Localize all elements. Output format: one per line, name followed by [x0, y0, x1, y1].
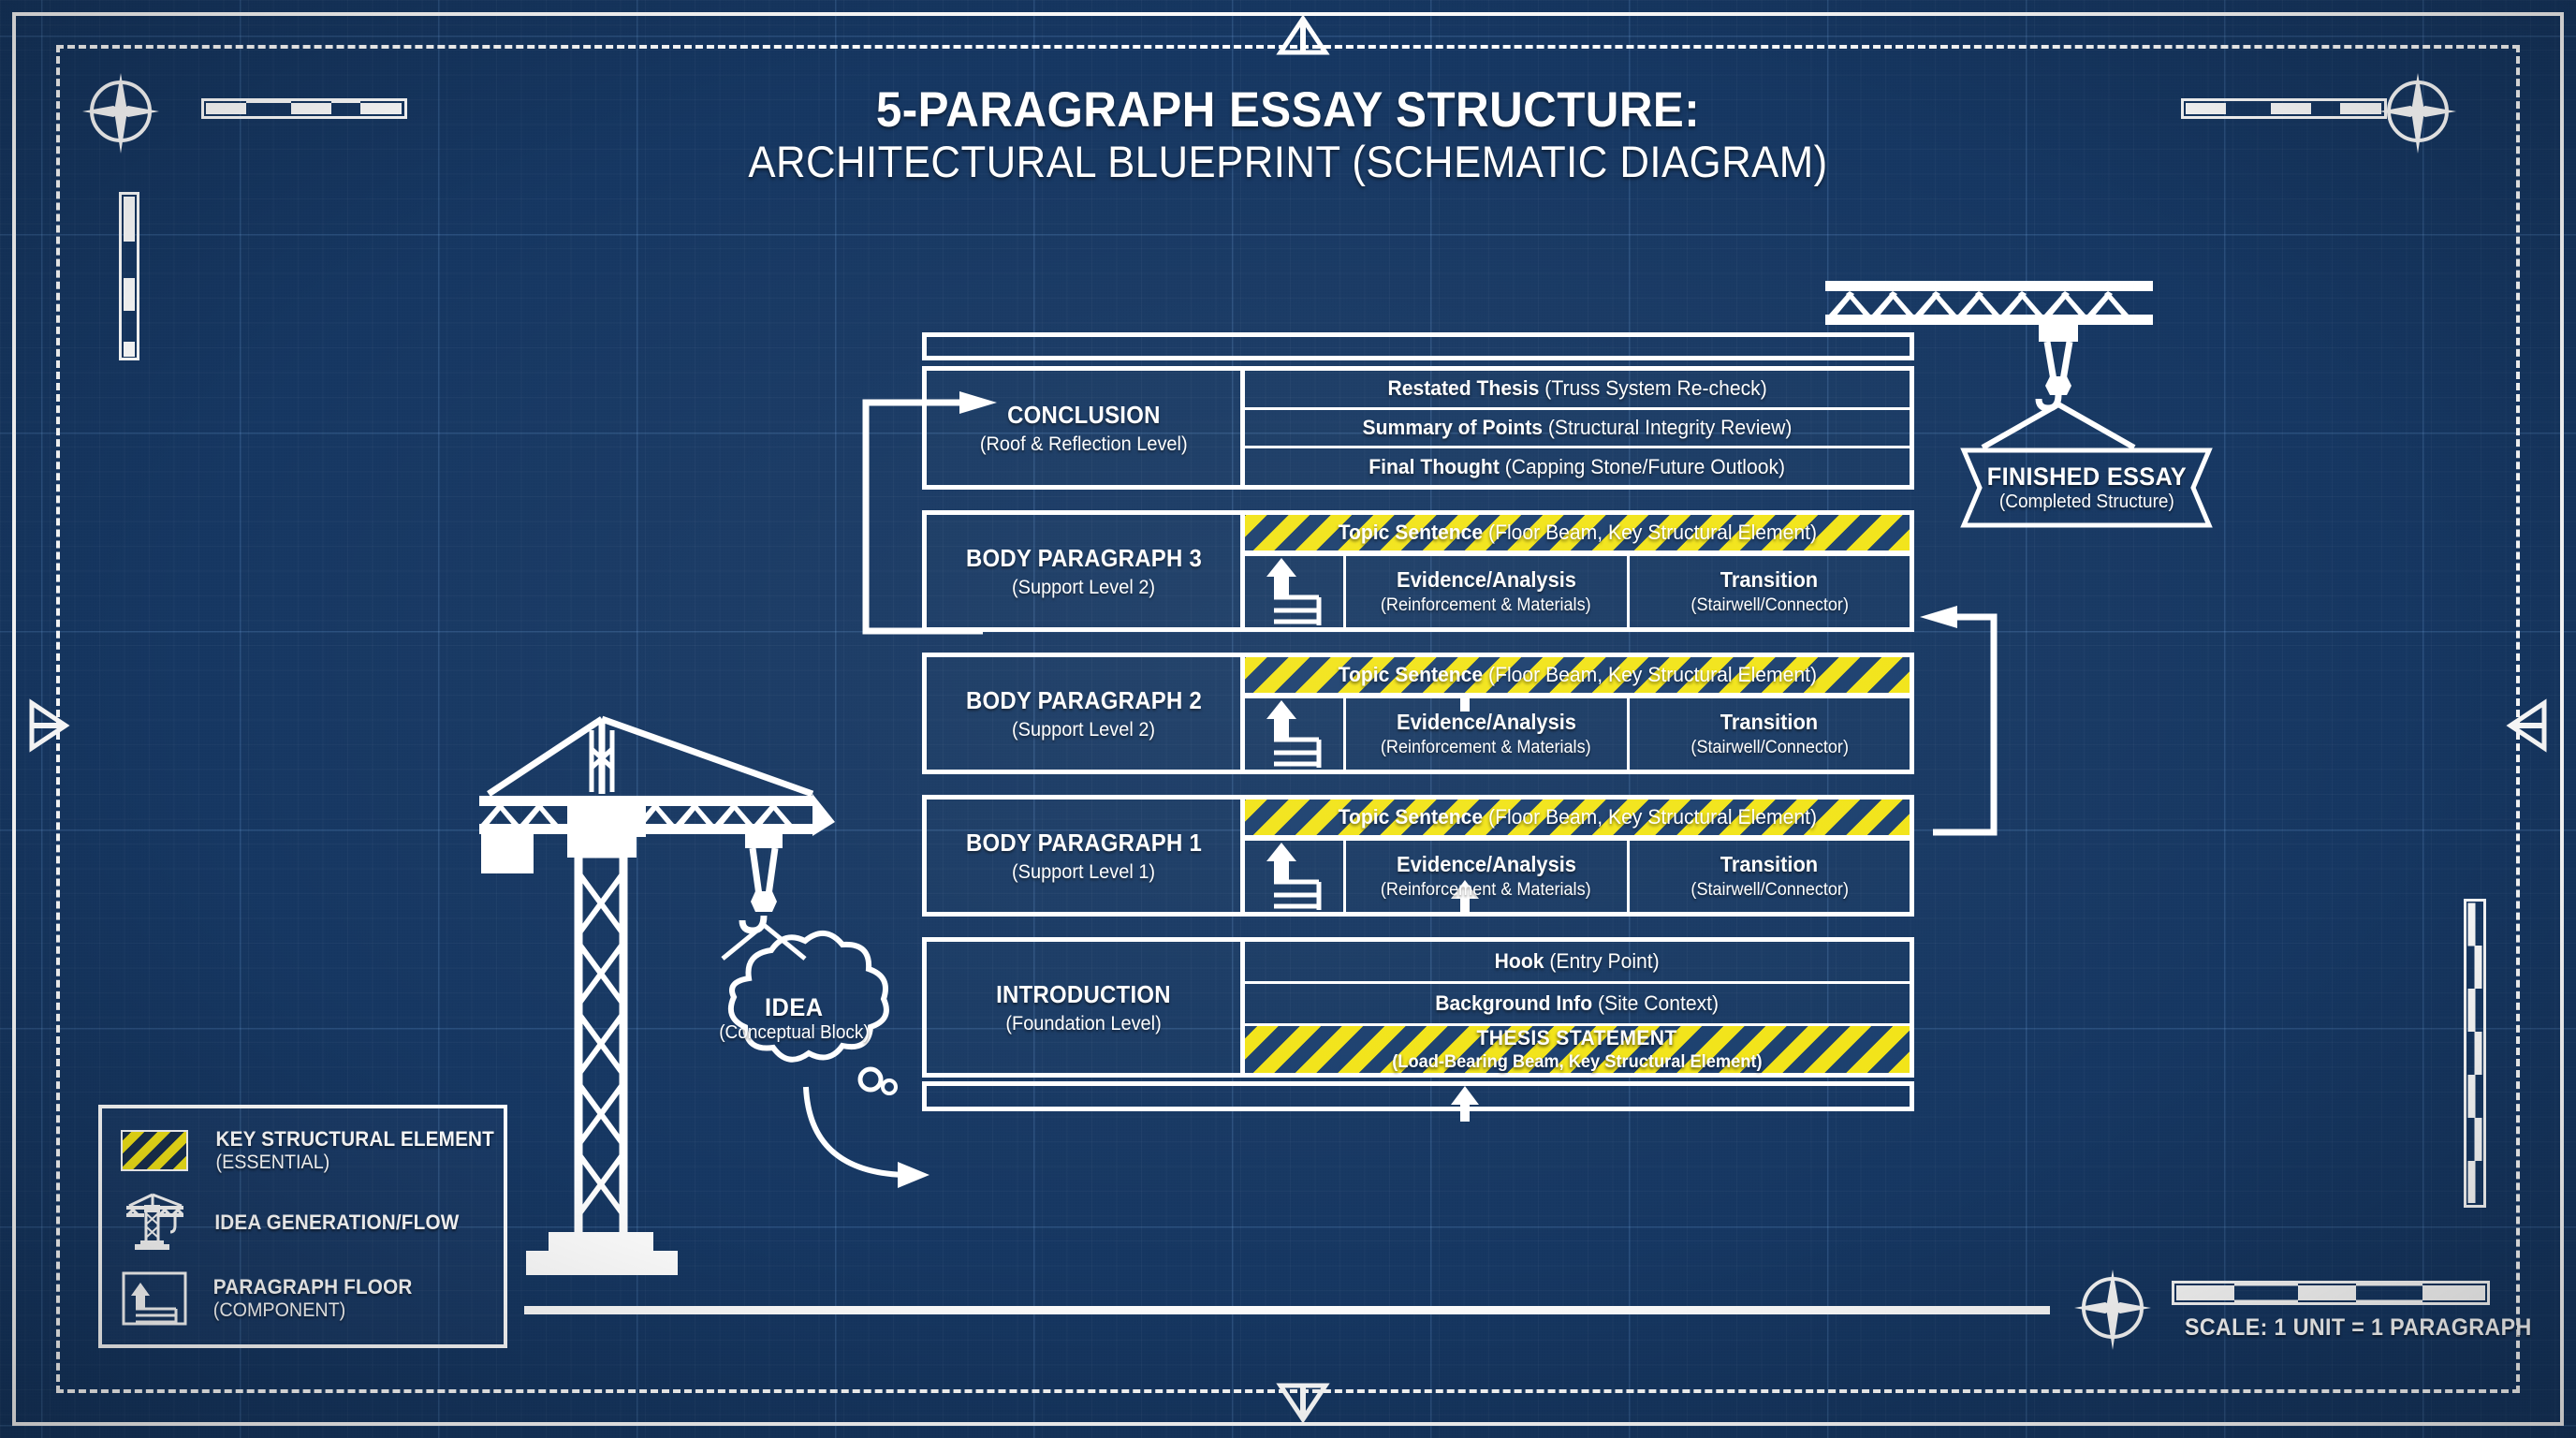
legend-item-key-structural-element[interactable]: KEY STRUCTURAL ELEMENT (ESSENTIAL)	[119, 1127, 487, 1174]
row-hook[interactable]: Hook (Entry Point)	[1245, 942, 1910, 981]
page-title: 5-PARAGRAPH ESSAY STRUCTURE: ARCHITECTUR…	[0, 82, 2576, 187]
floor-subtitle: (Foundation Level)	[1005, 1013, 1161, 1035]
stairwell-icon	[1261, 841, 1328, 912]
legend-sublabel: (COMPONENT)	[213, 1299, 413, 1322]
ruler-right-vertical	[2464, 899, 2486, 1208]
hazard-swatch-icon	[119, 1130, 190, 1171]
floor-rows-conclusion: Restated Thesis (Truss System Re-check) …	[1245, 371, 1910, 485]
floor-body-paragraph-1[interactable]: BODY PARAGRAPH 1 (Support Level 1) Topic…	[922, 795, 1914, 917]
floor-rows-body-paragraph-3: Topic Sentence (Floor Beam, Key Structur…	[1245, 515, 1910, 627]
idea-title: IDEA	[765, 993, 824, 1022]
cell-evidence-analysis[interactable]: Evidence/Analysis (Reinforcement & Mater…	[1346, 841, 1627, 912]
floor-label-body-paragraph-1: BODY PARAGRAPH 1 (Support Level 1)	[927, 800, 1245, 912]
row-bold: Restated Thesis	[1387, 376, 1539, 400]
legend-item-idea-generation[interactable]: IDEA GENERATION/FLOW	[119, 1194, 487, 1252]
floor-body-paragraph-2[interactable]: BODY PARAGRAPH 2 (Support Level 2) Topic…	[922, 653, 1914, 774]
finished-essay-title: FINISHED ESSAY	[1986, 462, 2186, 492]
stairwell-icon	[1261, 698, 1328, 770]
cell-title: Transition	[1720, 567, 1818, 593]
row-background-info[interactable]: Background Info (Site Context)	[1245, 981, 1910, 1023]
floor-conclusion[interactable]: CONCLUSION (Roof & Reflection Level) Res…	[922, 366, 1914, 490]
floor-rows-introduction: Hook (Entry Point) Background Info (Site…	[1245, 942, 1910, 1073]
floor-split-body-paragraph-1: Evidence/Analysis (Reinforcement & Mater…	[1245, 838, 1910, 912]
cell-subtitle: (Stairwell/Connector)	[1690, 595, 1849, 616]
floor-title: BODY PARAGRAPH 2	[965, 686, 1201, 715]
blueprint-canvas: 5-PARAGRAPH ESSAY STRUCTURE: ARCHITECTUR…	[0, 0, 2576, 1438]
cell-evidence-analysis[interactable]: Evidence/Analysis (Reinforcement & Mater…	[1346, 698, 1627, 770]
thesis-title: THESIS STATEMENT	[1477, 1026, 1677, 1050]
topic-sentence-beam[interactable]: Topic Sentence (Floor Beam, Key Structur…	[1245, 800, 1910, 838]
row-bold: Summary of Points	[1363, 416, 1543, 439]
cell-evidence-analysis[interactable]: Evidence/Analysis (Reinforcement & Mater…	[1346, 556, 1627, 627]
idea-cloud: IDEA (Conceptual Block)	[695, 941, 893, 1091]
foundation-slab	[922, 1081, 1914, 1111]
roof-cap	[922, 332, 1914, 360]
topic-sentence-beam[interactable]: Topic Sentence (Floor Beam, Key Structur…	[1245, 515, 1910, 553]
cell-subtitle: (Reinforcement & Materials)	[1381, 595, 1591, 616]
registration-mark-top	[1273, 17, 1333, 56]
thesis-statement-beam[interactable]: THESIS STATEMENT (Load-Bearing Beam, Key…	[1245, 1023, 1910, 1073]
floor-split-body-paragraph-3: Evidence/Analysis (Reinforcement & Mater…	[1245, 553, 1910, 627]
row-bold: Hook	[1495, 949, 1544, 973]
row-rest: (Capping Stone/Future Outlook)	[1500, 455, 1785, 478]
floor-label-conclusion: CONCLUSION (Roof & Reflection Level)	[927, 371, 1245, 485]
row-rest: (Truss System Re-check)	[1539, 376, 1766, 400]
floor-label-introduction: INTRODUCTION (Foundation Level)	[927, 942, 1245, 1073]
ruler-left-vertical	[119, 192, 139, 360]
essay-structure-stack: CONCLUSION (Roof & Reflection Level) Res…	[922, 332, 1914, 1111]
idea-subtitle: (Conceptual Block)	[719, 1022, 870, 1044]
finished-essay-subtitle: (Completed Structure)	[1999, 492, 2174, 513]
topic-rest: (Floor Beam, Key Structural Element)	[1483, 663, 1817, 686]
legend-item-paragraph-floor[interactable]: PARAGRAPH FLOOR (COMPONENT)	[119, 1271, 487, 1326]
row-final-thought[interactable]: Final Thought (Capping Stone/Future Outl…	[1245, 446, 1910, 485]
cell-title: Transition	[1720, 710, 1818, 735]
floor-rows-body-paragraph-2: Topic Sentence (Floor Beam, Key Structur…	[1245, 657, 1910, 770]
topic-rest: (Floor Beam, Key Structural Element)	[1483, 805, 1817, 829]
topic-bold: Topic Sentence	[1338, 663, 1483, 686]
compass-rose-bottom-right	[2074, 1269, 2151, 1350]
thesis-subtitle: (Load-Bearing Beam, Key Structural Eleme…	[1392, 1052, 1762, 1073]
scale-label: SCALE: 1 UNIT = 1 PARAGRAPH	[2185, 1314, 2532, 1342]
row-rest: (Site Context)	[1592, 991, 1719, 1015]
topic-sentence-beam[interactable]: Topic Sentence (Floor Beam, Key Structur…	[1245, 657, 1910, 696]
cell-transition[interactable]: Transition (Stairwell/Connector)	[1627, 841, 1910, 912]
registration-mark-left	[28, 696, 67, 756]
legend-sublabel: (ESSENTIAL)	[215, 1152, 494, 1174]
floor-label-body-paragraph-2: BODY PARAGRAPH 2 (Support Level 2)	[927, 657, 1245, 770]
cell-subtitle: (Reinforcement & Materials)	[1381, 738, 1591, 758]
cell-title: Evidence/Analysis	[1397, 710, 1576, 735]
cell-title: Evidence/Analysis	[1397, 852, 1576, 877]
paragraph-floor-icon	[119, 1271, 190, 1326]
floor-body-paragraph-3[interactable]: BODY PARAGRAPH 3 (Support Level 2) Topic…	[922, 510, 1914, 632]
legend-label: PARAGRAPH FLOOR	[213, 1275, 413, 1299]
stairwell-icon	[1261, 556, 1328, 627]
row-bold: Background Info	[1436, 991, 1593, 1015]
scale-bar	[2172, 1281, 2490, 1305]
floor-introduction[interactable]: INTRODUCTION (Foundation Level) Hook (En…	[922, 937, 1914, 1078]
cell-title: Evidence/Analysis	[1397, 567, 1576, 593]
registration-mark-bottom	[1273, 1382, 1333, 1421]
cell-subtitle: (Stairwell/Connector)	[1690, 880, 1849, 901]
row-rest: (Structural Integrity Review)	[1543, 416, 1792, 439]
legend-panel: KEY STRUCTURAL ELEMENT (ESSENTIAL)	[98, 1105, 507, 1348]
floor-title: INTRODUCTION	[996, 980, 1171, 1009]
row-bold: Final Thought	[1369, 455, 1500, 478]
tower-crane-icon	[119, 1194, 190, 1252]
floor-subtitle: (Support Level 1)	[1012, 861, 1155, 884]
floor-label-body-paragraph-3: BODY PARAGRAPH 3 (Support Level 2)	[927, 515, 1245, 627]
floor-rows-body-paragraph-1: Topic Sentence (Floor Beam, Key Structur…	[1245, 800, 1910, 912]
floor-subtitle: (Roof & Reflection Level)	[980, 433, 1188, 456]
stair-icon-cell	[1245, 556, 1346, 627]
cell-subtitle: (Stairwell/Connector)	[1690, 738, 1849, 758]
cell-title: Transition	[1720, 852, 1818, 877]
cell-transition[interactable]: Transition (Stairwell/Connector)	[1627, 556, 1910, 627]
registration-mark-right	[2509, 696, 2548, 756]
topic-bold: Topic Sentence	[1338, 805, 1483, 829]
legend-label: IDEA GENERATION/FLOW	[214, 1211, 459, 1235]
cell-transition[interactable]: Transition (Stairwell/Connector)	[1627, 698, 1910, 770]
finished-essay-banner: FINISHED ESSAY (Completed Structure)	[1961, 448, 2212, 528]
title-line-1: 5-PARAGRAPH ESSAY STRUCTURE:	[90, 82, 2485, 138]
topic-bold: Topic Sentence	[1338, 521, 1483, 544]
ground-line	[524, 1306, 2050, 1314]
topic-rest: (Floor Beam, Key Structural Element)	[1483, 521, 1817, 544]
floor-title: BODY PARAGRAPH 3	[965, 544, 1201, 573]
floor-subtitle: (Support Level 2)	[1012, 577, 1155, 599]
row-summary-of-points[interactable]: Summary of Points (Structural Integrity …	[1245, 407, 1910, 447]
row-rest: (Entry Point)	[1544, 949, 1660, 973]
floor-split-body-paragraph-2: Evidence/Analysis (Reinforcement & Mater…	[1245, 696, 1910, 770]
row-restated-thesis[interactable]: Restated Thesis (Truss System Re-check)	[1245, 371, 1910, 407]
title-line-2: ARCHITECTURAL BLUEPRINT (SCHEMATIC DIAGR…	[90, 138, 2485, 187]
cell-subtitle: (Reinforcement & Materials)	[1381, 880, 1591, 901]
connector-right-loop	[1905, 604, 2073, 838]
legend-label: KEY STRUCTURAL ELEMENT	[215, 1127, 494, 1152]
stair-icon-cell	[1245, 698, 1346, 770]
floor-title: CONCLUSION	[1007, 401, 1161, 430]
floor-subtitle: (Support Level 2)	[1012, 719, 1155, 741]
floor-title: BODY PARAGRAPH 1	[965, 829, 1201, 858]
stair-icon-cell	[1245, 841, 1346, 912]
